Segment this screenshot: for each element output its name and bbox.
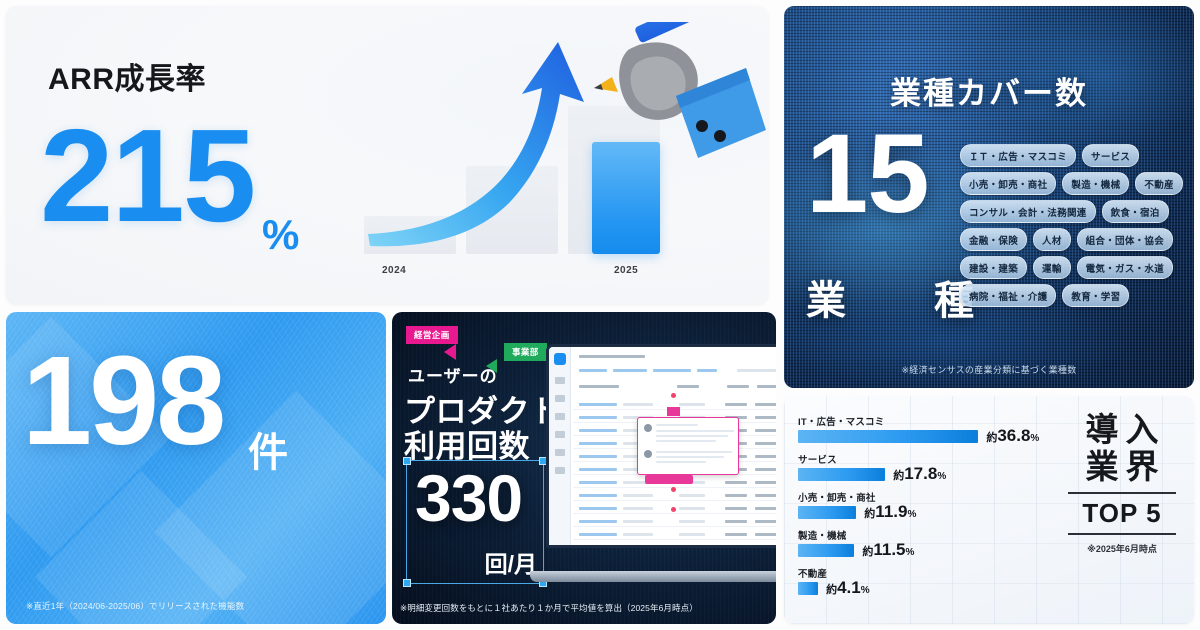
bar-value-label: 約36.8% <box>986 426 1039 446</box>
industry-tag: 病院・福祉・介護 <box>960 284 1056 307</box>
bar-track: 約4.1% <box>798 582 1056 595</box>
industry-panel-title: 業種カバー数 <box>784 68 1194 113</box>
bar-row: IT・広告・マスコミ約36.8% <box>798 414 1056 452</box>
popup-text-3 <box>656 440 716 442</box>
laptop-base <box>530 571 776 582</box>
table-cell <box>623 520 653 523</box>
table-cell <box>623 494 653 497</box>
divider-top <box>1068 492 1176 494</box>
industry-panel-footnote: ※経済センサスの産業分類に基づく業種数 <box>784 363 1194 376</box>
top5-heading-line2: 業界 <box>1066 449 1178 486</box>
release-count-unit: 件 <box>248 420 288 478</box>
arr-unit: % <box>262 214 299 256</box>
laptop-mockup <box>538 338 776 582</box>
industry-tag: コンサル・会計・法務関連 <box>960 200 1096 223</box>
table-cell <box>679 507 705 510</box>
feature-release-panel: 198 件 直近１年の 機能リリース数 ※直近1年（2024/06-2025/0… <box>6 312 386 624</box>
avatar-2 <box>644 450 652 458</box>
release-panel-footnote: ※直近1年（2024/06-2025/06）でリリースされた機能数 <box>26 600 244 612</box>
hand-with-pencil-icon <box>346 22 766 300</box>
product-usage-panel: 経営企画 事業部 ユーザーの プロダクト 利用回数 330 回/月 <box>392 312 776 624</box>
bar-row: サービス約17.8% <box>798 452 1056 490</box>
top5-heading-block: 導入 業界 TOP 5 ※2025年6月時点 <box>1066 412 1178 555</box>
industry-count-unit: 業 種 <box>806 268 974 326</box>
bar-fill <box>798 468 885 481</box>
table-cell <box>579 507 617 510</box>
selection-frame[interactable]: 330 回/月 <box>406 460 544 584</box>
infographic-root: ARR成長率 215 % 2024 2025 <box>0 0 1200 630</box>
table-cell <box>579 468 617 471</box>
bar-category-label: 製造・機械 <box>798 528 1056 542</box>
top5-panel-footnote: ※2025年6月時点 <box>1066 542 1178 555</box>
table-cell <box>579 520 617 523</box>
alert-dot-3 <box>671 507 676 512</box>
table-cell <box>725 481 747 484</box>
selection-handle-bottom-left[interactable] <box>403 579 411 587</box>
table-cell <box>725 494 747 497</box>
table-cell <box>679 533 705 536</box>
bar-fill <box>798 506 856 519</box>
table-cell <box>579 455 617 458</box>
bar-row: 製造・機械約11.5% <box>798 528 1056 566</box>
industry-tag: 教育・学習 <box>1062 284 1129 307</box>
table-cell <box>725 507 747 510</box>
alert-dot-2 <box>671 487 676 492</box>
industry-tag: ＩＴ・広告・マスコミ <box>960 144 1076 167</box>
industry-unit-char-1: 業 <box>806 268 846 326</box>
arr-value: 215 <box>40 110 254 242</box>
sidebar-icon-2[interactable] <box>555 395 565 402</box>
bar-track: 約11.9% <box>798 506 1056 519</box>
table-header-2 <box>677 385 699 388</box>
top5-bar-chart: IT・広告・マスコミ約36.8%サービス約17.8%小売・卸売・商社約11.9%… <box>798 414 1056 604</box>
table-cell <box>579 442 617 445</box>
table-cell <box>755 416 776 419</box>
app-logo-icon <box>554 353 566 365</box>
industry-tag: 人材 <box>1033 228 1071 251</box>
app-toolbar <box>737 369 776 372</box>
selection-handle-top-left[interactable] <box>403 457 411 465</box>
arr-growth-panel: ARR成長率 215 % 2024 2025 <box>6 6 768 304</box>
table-header-1 <box>579 385 619 388</box>
sidebar-icon-4[interactable] <box>555 431 565 438</box>
sidebar-icon-5[interactable] <box>555 449 565 456</box>
sidebar-icon-1[interactable] <box>555 377 565 384</box>
sidebar-icon-6[interactable] <box>555 467 565 474</box>
table-cell <box>579 481 617 484</box>
table-cell <box>755 533 776 536</box>
industry-coverage-panel: 業種カバー数 15 業 種 ＩＴ・広告・マスコミサービス小売・卸売・商社製造・機… <box>784 6 1194 388</box>
industry-tag: サービス <box>1082 144 1139 167</box>
industry-tag: 小売・卸売・商社 <box>960 172 1056 195</box>
bar-track: 約11.5% <box>798 544 1056 557</box>
bar-value-label: 約11.5% <box>862 540 914 560</box>
industry-tag: 不動産 <box>1135 172 1182 195</box>
avatar <box>644 424 652 432</box>
table-cell <box>623 507 653 510</box>
bar-row: 小売・卸売・商社約11.9% <box>798 490 1056 528</box>
table-cell <box>755 442 776 445</box>
alert-dot-1 <box>671 393 676 398</box>
chip-keiei-kikaku: 経営企画 <box>406 326 458 344</box>
dashboard-screenshot <box>546 344 776 548</box>
table-cell <box>579 494 617 497</box>
table-cell <box>725 533 747 536</box>
bar-track: 約36.8% <box>798 430 1056 443</box>
table-cell <box>579 416 617 419</box>
bar-fill <box>798 430 978 443</box>
table-cell <box>755 481 776 484</box>
table-cell <box>679 403 705 406</box>
bar-value-label: 約17.8% <box>893 464 946 484</box>
table-cell <box>755 455 776 458</box>
comment-popup[interactable] <box>637 417 739 475</box>
table-cell <box>725 520 747 523</box>
pink-triangle-icon <box>444 344 456 360</box>
bar-category-label: 小売・卸売・商社 <box>798 490 1056 504</box>
industry-tag: 金融・保険 <box>960 228 1027 251</box>
arr-growth-chart: 2024 2025 <box>346 22 766 300</box>
popup-text-1 <box>656 430 734 432</box>
bar-row: 不動産約4.1% <box>798 566 1056 604</box>
app-sidebar <box>549 347 571 545</box>
bar-track: 約17.8% <box>798 468 1056 481</box>
industry-tag: 電気・ガス・水道 <box>1077 256 1173 279</box>
highlighted-cell[interactable] <box>667 407 680 416</box>
table-header-3 <box>727 385 749 388</box>
popup-name <box>656 424 698 426</box>
sidebar-icon-3[interactable] <box>555 413 565 420</box>
usage-heading-line1: ユーザーの <box>408 362 498 387</box>
table-cell <box>579 429 617 432</box>
divider-bottom <box>1068 533 1176 535</box>
bar-fill <box>798 544 854 557</box>
release-count-value: 198 <box>22 338 223 464</box>
industry-tag: 運輸 <box>1033 256 1071 279</box>
usage-panel-footnote: ※明細変更回数をもとに１社あたり１か月で平均値を算出（2025年6月時点） <box>400 602 698 614</box>
table-cell <box>755 403 776 406</box>
table-cell <box>755 520 776 523</box>
table-header-4 <box>757 385 776 388</box>
arr-panel-title: ARR成長率 <box>48 54 206 98</box>
table-cell <box>679 520 705 523</box>
top5-heading-line1: 導入 <box>1066 412 1178 449</box>
table-cell <box>755 429 776 432</box>
app-tab-1[interactable] <box>579 369 607 372</box>
popup-text-6 <box>656 461 706 463</box>
popup-text-2 <box>656 435 728 437</box>
top5-industry-panel: IT・広告・マスコミ約36.8%サービス約17.8%小売・卸売・商社約11.9%… <box>784 396 1194 624</box>
table-cell <box>623 533 653 536</box>
table-cell <box>755 468 776 471</box>
table-cell <box>679 494 705 497</box>
top5-rank-label: TOP 5 <box>1066 498 1178 529</box>
app-tab-4[interactable] <box>697 369 717 372</box>
usage-count-value: 330 <box>415 465 522 531</box>
popup-action-button[interactable] <box>645 475 693 484</box>
table-cell <box>579 533 617 536</box>
industry-tag-list: ＩＴ・広告・マスコミサービス小売・卸売・商社製造・機械不動産コンサル・会計・法務… <box>960 144 1186 307</box>
table-cell <box>579 403 617 406</box>
bar-fill <box>798 582 818 595</box>
industry-tag: 飲食・宿泊 <box>1102 200 1169 223</box>
app-breadcrumb <box>579 355 645 358</box>
table-cell <box>725 403 747 406</box>
app-tab-3[interactable] <box>653 369 691 372</box>
industry-tag: 建設・建築 <box>960 256 1027 279</box>
industry-count-value: 15 <box>806 118 929 230</box>
table-cell <box>755 507 776 510</box>
popup-text-4 <box>656 451 732 453</box>
industry-tag: 組合・団体・協会 <box>1077 228 1173 251</box>
industry-tag: 製造・機械 <box>1062 172 1129 195</box>
table-cell <box>623 403 653 406</box>
app-tab-2[interactable] <box>613 369 647 372</box>
popup-text-5 <box>656 456 724 458</box>
table-cell <box>755 494 776 497</box>
bar-value-label: 約4.1% <box>826 578 870 598</box>
bar-value-label: 約11.9% <box>864 502 916 522</box>
